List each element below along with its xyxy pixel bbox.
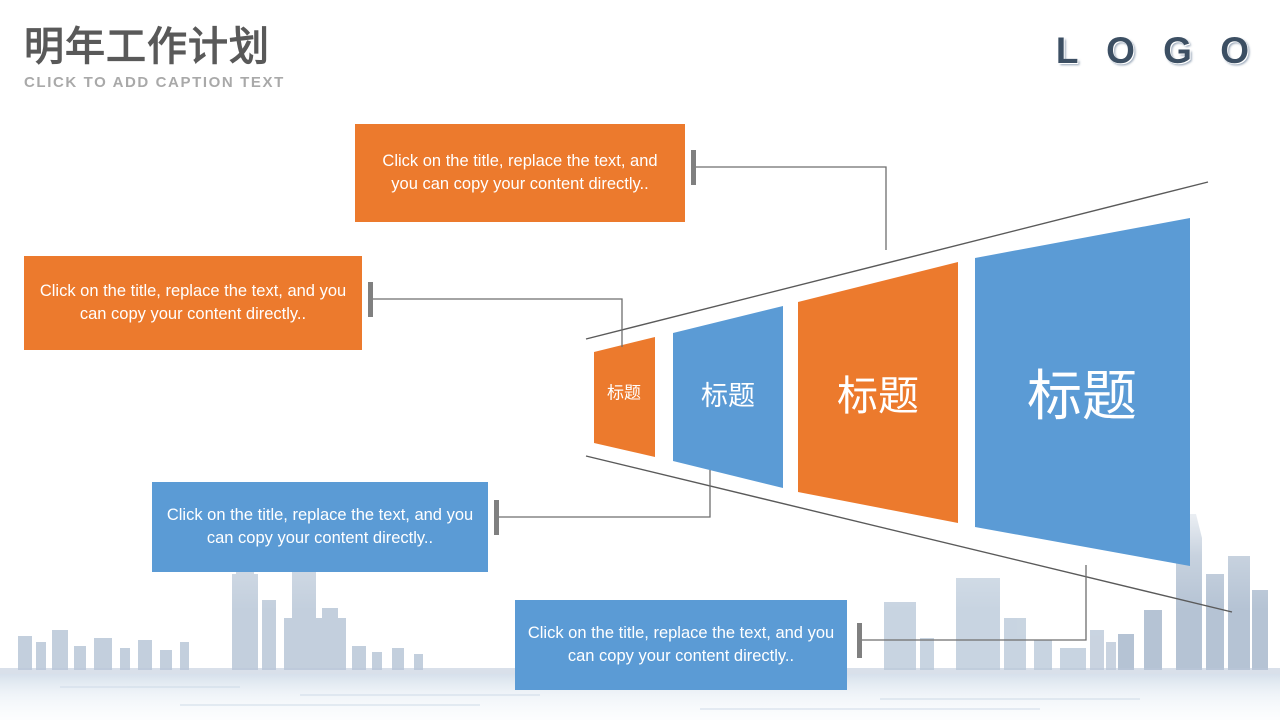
connector-tick-3 (494, 500, 499, 535)
funnel-segment-1[interactable]: 标题 (594, 337, 655, 457)
connector-tick-1 (691, 150, 696, 185)
callout-box-2[interactable]: Click on the title, replace the text, an… (24, 256, 362, 350)
funnel-segment-2-label: 标题 (701, 381, 755, 411)
callout-text-3: Click on the title, replace the text, an… (164, 504, 476, 551)
funnel-segment-3[interactable]: 标题 (798, 262, 958, 523)
funnel-segment-1-label: 标题 (607, 384, 641, 403)
funnel-segment-2[interactable]: 标题 (673, 306, 783, 488)
callout-box-3[interactable]: Click on the title, replace the text, an… (152, 482, 488, 572)
funnel-segment-4[interactable]: 标题 (975, 218, 1190, 566)
connector-tick-4 (857, 623, 862, 658)
funnel-segment-4-label: 标题 (1027, 365, 1137, 427)
callout-box-1[interactable]: Click on the title, replace the text, an… (355, 124, 685, 222)
callout-text-4: Click on the title, replace the text, an… (527, 622, 835, 669)
slide-canvas: 明年工作计划 CLICK TO ADD CAPTION TEXT L O G O… (0, 0, 1280, 720)
funnel-segment-3-label: 标题 (837, 373, 919, 419)
callout-box-4[interactable]: Click on the title, replace the text, an… (515, 600, 847, 690)
callout-text-2: Click on the title, replace the text, an… (36, 280, 350, 327)
connector-tick-2 (368, 282, 373, 317)
callout-text-1: Click on the title, replace the text, an… (367, 150, 673, 197)
